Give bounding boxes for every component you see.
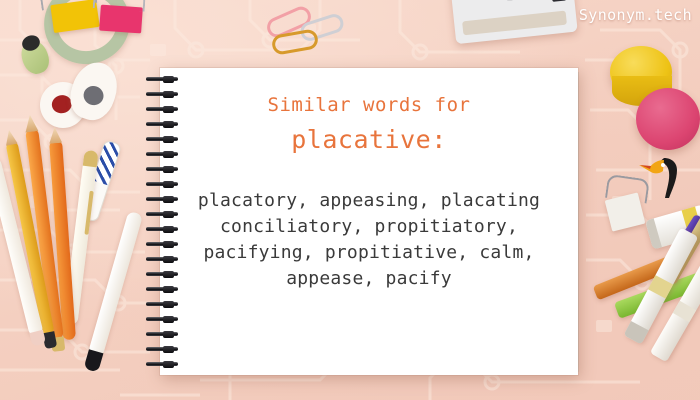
synonym-line: pacifying, propitiative, calm, <box>160 240 578 266</box>
notebook-content: Similar words for placative: placatory, … <box>160 68 578 375</box>
query-word-text: placative: <box>291 125 447 154</box>
binder-clip-pink <box>99 5 143 34</box>
site-logo: Synonym.tech <box>579 6 692 24</box>
synonym-list: placatory, appeasing, placating concilia… <box>160 188 578 292</box>
desk-scene: Similar words for placative: placatory, … <box>0 0 700 400</box>
synonym-line: appease, pacify <box>160 266 578 292</box>
subtitle-text: Similar words for <box>268 94 471 116</box>
synonym-line: placatory, appeasing, placating <box>160 188 578 214</box>
macaron-pink <box>636 88 700 150</box>
synonym-line: conciliatory, propitiatory, <box>160 214 578 240</box>
